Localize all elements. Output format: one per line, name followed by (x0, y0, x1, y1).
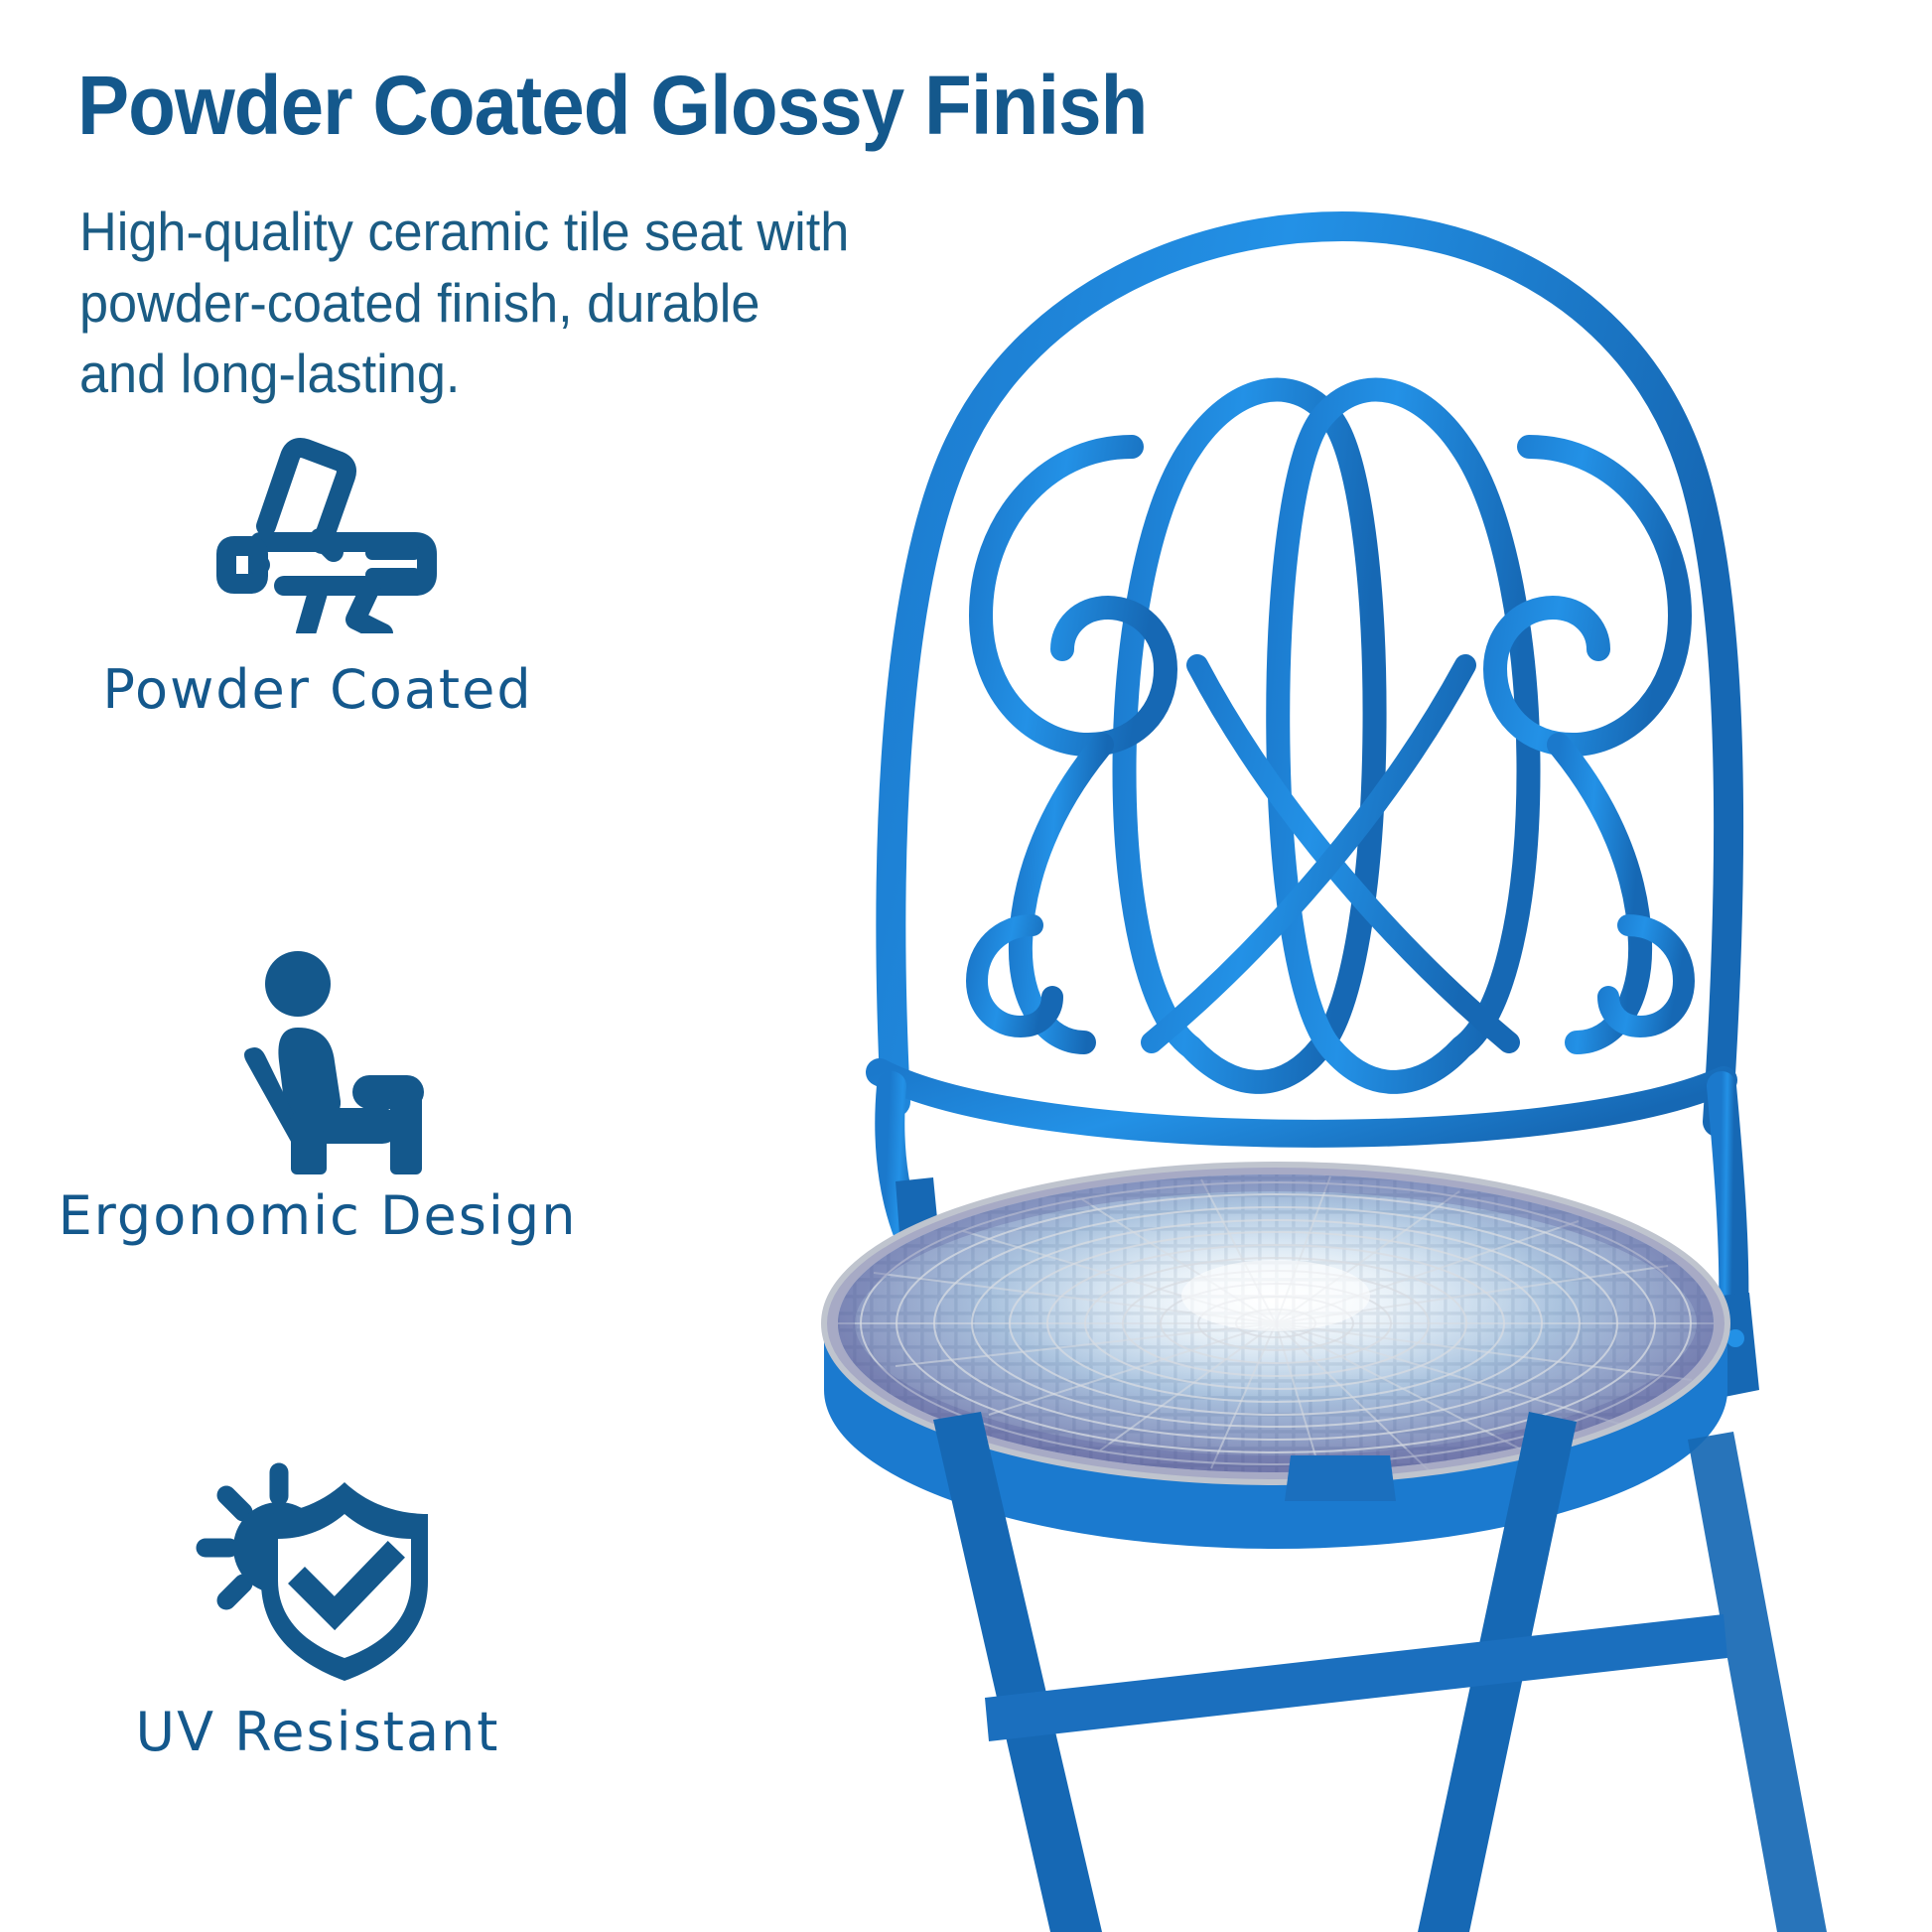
page-title: Powder Coated Glossy Finish (77, 64, 1278, 147)
feature-item-ergonomic-design: Ergonomic Design (0, 953, 635, 1247)
feature-item-uv-resistant: UV Resistant (0, 1469, 635, 1763)
feature-label-uv-resistant: UV Resistant (0, 1701, 635, 1763)
product-image-bistro-chair (635, 149, 1932, 1932)
seated-person-icon (0, 953, 635, 1167)
feature-item-powder-coated: Powder Coated (0, 427, 635, 721)
feature-label-powder-coated: Powder Coated (0, 658, 635, 721)
sun-shield-check-icon (0, 1469, 635, 1683)
infographic-page: Powder Coated Glossy Finish High-quality… (0, 0, 1932, 1932)
feature-label-ergonomic-design: Ergonomic Design (0, 1184, 635, 1247)
spray-gun-icon (0, 427, 635, 640)
